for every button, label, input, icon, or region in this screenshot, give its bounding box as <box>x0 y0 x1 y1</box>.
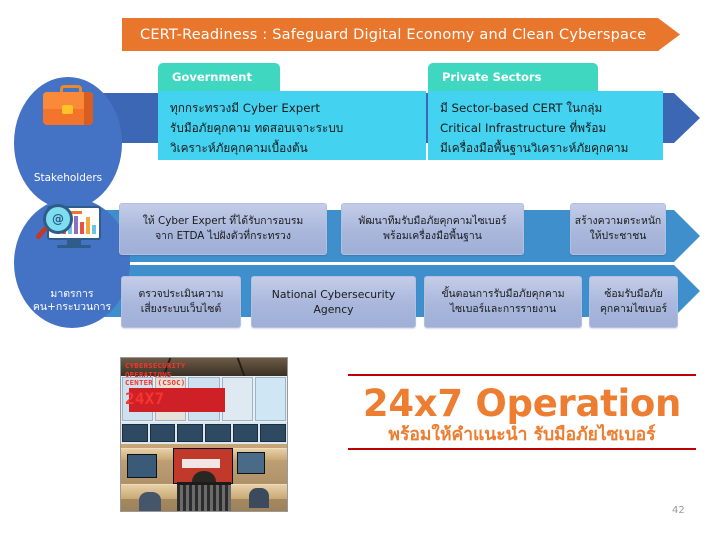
government-panel-header: Government <box>158 63 280 91</box>
measure-box-top-3[interactable]: สร้างความตระหนัก ให้ประชาชน <box>570 203 666 255</box>
measure-box-top-3-line1: สร้างความตระหนัก <box>575 214 661 229</box>
slide-canvas: CERT-Readiness : Safeguard Digital Econo… <box>0 0 720 540</box>
government-panel: Government ทุกกระทรวงมี Cyber Expert รับ… <box>158 63 280 160</box>
headline-main: 24x7 Operation <box>348 382 696 426</box>
headline-rule-bottom <box>348 448 696 450</box>
measure-box-bottom-4[interactable]: ซ้อมรับมือภัย คุกคามไซเบอร์ <box>589 276 678 328</box>
measure-box-bottom-3[interactable]: ขั้นตอนการรับมือภัยคุกคาม ไซเบอร์และการร… <box>424 276 582 328</box>
measure-box-top-3-text: สร้างความตระหนัก ให้ประชาชน <box>575 214 661 244</box>
measure-box-top-1-line2: จาก ETDA ไปฝังตัวที่กระทรวง <box>143 229 304 244</box>
measure-box-bottom-2[interactable]: National Cybersecurity Agency <box>251 276 416 328</box>
page-title: CERT-Readiness : Safeguard Digital Econo… <box>122 27 646 43</box>
soc-overlay-line3: CENTER (CSOC) <box>125 379 229 388</box>
private-line-3: มีเครื่องมือพื้นฐานวิเคราะห์ภัยคุกคาม <box>440 138 653 158</box>
stakeholders-circle: Stakeholders <box>14 77 122 209</box>
measure-box-top-1-text: ให้ Cyber Expert ที่ได้รับการอบรม จาก ET… <box>143 214 304 244</box>
measure-box-bottom-4-line2: คุกคามไซเบอร์ <box>600 302 667 317</box>
measure-box-top-1[interactable]: ให้ Cyber Expert ที่ได้รับการอบรม จาก ET… <box>119 203 327 255</box>
measure-box-top-1-line1: ให้ Cyber Expert ที่ได้รับการอบรม <box>143 214 304 229</box>
government-panel-body: ทุกกระทรวงมี Cyber Expert รับมือภัยคุกคา… <box>158 91 426 160</box>
soc-overlay-24x7: 24X7 <box>125 390 229 407</box>
measures-label-line2: คน+กระบวนการ <box>33 301 111 314</box>
measure-box-top-2-line2: พร้อมเครื่องมือพื้นฐาน <box>358 229 506 244</box>
soc-photo-overlay-text: CYBERSECURITY OPERATIONS CENTER (CSOC) 2… <box>125 362 229 407</box>
headline-rule-top <box>348 374 696 376</box>
measure-box-top-2-text: พัฒนาทีมรับมือภัยคุกคามไซเบอร์ พร้อมเครื… <box>358 214 506 244</box>
government-line-1: ทุกกระทรวงมี Cyber Expert <box>170 98 416 118</box>
measure-box-bottom-4-line1: ซ้อมรับมือภัย <box>600 287 667 302</box>
measure-box-top-3-line2: ให้ประชาชน <box>575 229 661 244</box>
headline-sub: พร้อมให้คำแนะนำ รับมือภัยไซเบอร์ <box>348 424 696 446</box>
measure-box-bottom-1-line2: เสี่ยงระบบเว็บไซต์ <box>139 302 224 317</box>
private-sectors-panel-body: มี Sector-based CERT ในกลุ่ม Critical In… <box>428 91 663 160</box>
private-line-1: มี Sector-based CERT ในกลุ่ม <box>440 98 653 118</box>
government-line-2: รับมือภัยคุกคาม ทดสอบเจาะระบบ <box>170 118 416 138</box>
measure-box-bottom-2-text: National Cybersecurity Agency <box>272 287 395 317</box>
measure-box-bottom-1[interactable]: ตรวจประเมินความ เสี่ยงระบบเว็บไซต์ <box>121 276 241 328</box>
monitor-analytics-magnifier-icon: @ <box>43 206 101 252</box>
measure-box-bottom-3-line2: ไซเบอร์และการรายงาน <box>441 302 564 317</box>
measure-box-bottom-3-text: ขั้นตอนการรับมือภัยคุกคาม ไซเบอร์และการร… <box>441 287 564 317</box>
measure-box-bottom-2-line1: National Cybersecurity <box>272 287 395 302</box>
stakeholders-label: Stakeholders <box>34 172 102 185</box>
measure-box-bottom-1-text: ตรวจประเมินความ เสี่ยงระบบเว็บไซต์ <box>139 287 224 317</box>
measures-circle: @ มาตรการ คน+กระบวนการ <box>14 198 130 328</box>
slide-title-banner: CERT-Readiness : Safeguard Digital Econo… <box>122 18 680 51</box>
measure-box-bottom-4-text: ซ้อมรับมือภัย คุกคามไซเบอร์ <box>600 287 667 317</box>
government-line-3: วิเคราะห์ภัยคุกคามเบื้องต้น <box>170 138 416 158</box>
briefcase-icon <box>43 85 93 125</box>
private-sectors-panel: Private Sectors มี Sector-based CERT ในก… <box>428 63 598 160</box>
operation-headline-block: 24x7 Operation พร้อมให้คำแนะนำ รับมือภัย… <box>348 374 696 450</box>
measure-box-top-2-line1: พัฒนาทีมรับมือภัยคุกคามไซเบอร์ <box>358 214 506 229</box>
private-line-2: Critical Infrastructure ที่พร้อม <box>440 118 653 138</box>
soc-photo: CYBERSECURITY OPERATIONS CENTER (CSOC) 2… <box>120 357 288 512</box>
measure-box-bottom-1-line1: ตรวจประเมินความ <box>139 287 224 302</box>
measure-box-bottom-3-line1: ขั้นตอนการรับมือภัยคุกคาม <box>441 287 564 302</box>
page-number: 42 <box>672 505 685 516</box>
measure-box-top-2[interactable]: พัฒนาทีมรับมือภัยคุกคามไซเบอร์ พร้อมเครื… <box>341 203 524 255</box>
measures-label-line1: มาตรการ <box>50 288 93 301</box>
private-sectors-panel-header: Private Sectors <box>428 63 598 91</box>
measure-box-bottom-2-line2: Agency <box>272 302 395 317</box>
